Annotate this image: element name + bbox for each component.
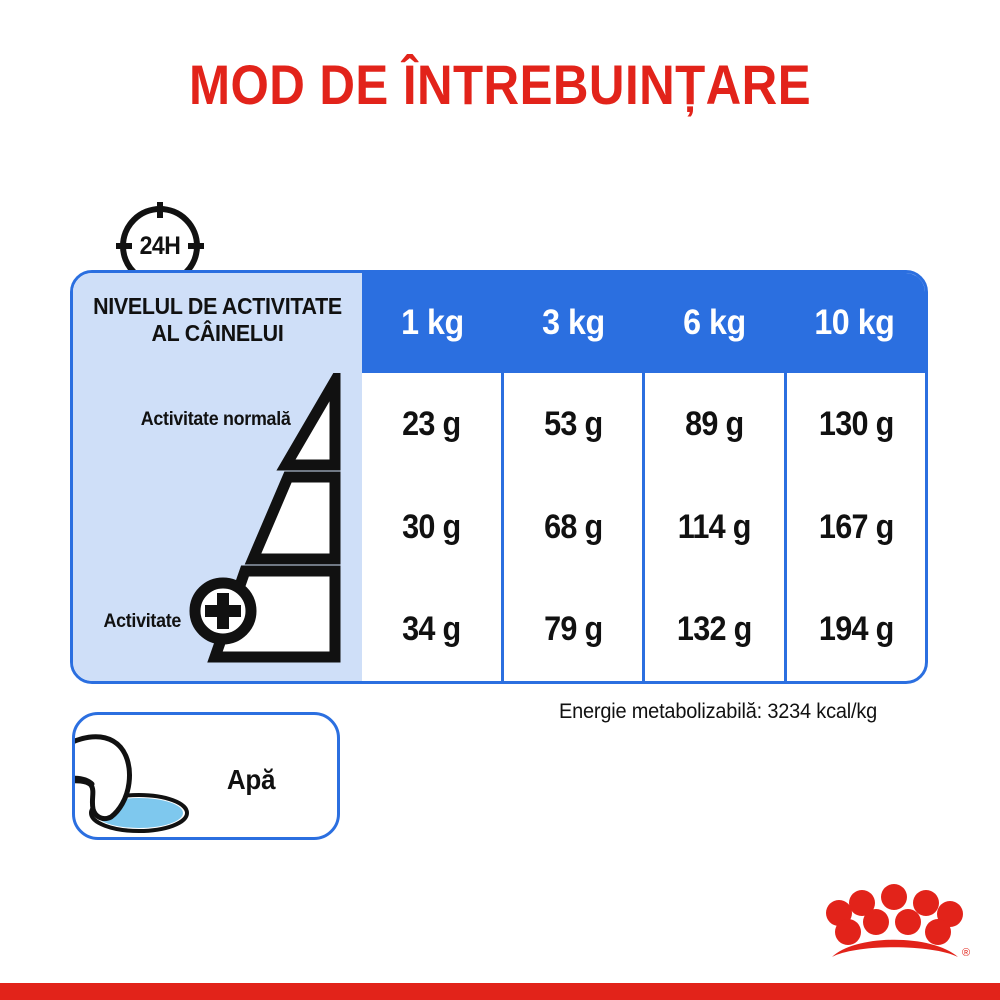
portion-cell: 53 g: [510, 373, 635, 476]
portion-cell: 132 g: [652, 578, 777, 681]
portion-cell: 89 g: [652, 373, 777, 476]
portion-cell: 23 g: [369, 373, 494, 476]
portion-column-1kg: 23 g 30 g 34 g: [362, 373, 501, 681]
royal-canin-crown-logo: ®: [826, 884, 976, 962]
weight-column-header-3kg: 3 kg: [508, 273, 637, 373]
activity-stairs-icon-group: [183, 373, 363, 673]
stairs-step-low-icon: [286, 381, 335, 465]
portion-cell: 30 g: [369, 476, 494, 579]
weight-column-header-row: 1 kg 3 kg 6 kg 10 kg: [362, 273, 925, 373]
activity-level-header: NIVELUL DE ACTIVITATE AL CÂINELUI: [83, 273, 352, 347]
stairs-icon: [183, 373, 363, 673]
activity-level-header-line2: AL CÂINELUI: [83, 320, 352, 347]
portion-cell: 68 g: [510, 476, 635, 579]
portions-panel: 1 kg 3 kg 6 kg 10 kg 23 g 30 g 34 g 53 g…: [362, 273, 925, 681]
dog-drinking-water-icon-wrap: [73, 721, 213, 839]
water-box: Apă: [72, 712, 340, 840]
page-title: MOD DE ÎNTREBUINȚARE: [60, 52, 940, 117]
bottom-red-bar: [0, 983, 1000, 1000]
weight-column-header-1kg: 1 kg: [368, 273, 497, 373]
royal-canin-logo: ®: [826, 884, 976, 962]
portion-cell: 79 g: [510, 578, 635, 681]
portion-cell: 130 g: [793, 373, 918, 476]
weight-column-header-10kg: 10 kg: [790, 273, 919, 373]
portion-cell: 194 g: [793, 578, 918, 681]
portion-cell: 34 g: [369, 578, 494, 681]
portion-column-6kg: 89 g 114 g 132 g: [642, 373, 784, 681]
metabolizable-energy-note: Energie metabolizabilă: 3234 kcal/kg: [514, 700, 923, 724]
portion-column-3kg: 53 g 68 g 79 g: [501, 373, 643, 681]
portion-column-10kg: 130 g 167 g 194 g: [784, 373, 926, 681]
weight-column-header-6kg: 6 kg: [649, 273, 778, 373]
stairs-step-mid-icon: [253, 477, 335, 559]
feeding-table: NIVELUL DE ACTIVITATE AL CÂINELUI Activi…: [70, 270, 928, 684]
registered-mark: ®: [962, 947, 970, 959]
water-label: Apă: [227, 764, 275, 796]
dog-drinking-water-icon: [73, 721, 213, 839]
activity-level-header-line1: NIVELUL DE ACTIVITATE: [83, 293, 352, 320]
portion-cell: 114 g: [652, 476, 777, 579]
activity-level-panel: NIVELUL DE ACTIVITATE AL CÂINELUI Activi…: [73, 273, 362, 681]
activity-rows: Activitate normală Activitate: [73, 373, 362, 681]
activity-label-plus: Activitate: [103, 611, 181, 633]
portion-cell: 167 g: [793, 476, 918, 579]
plus-horizontal-bar: [205, 605, 241, 617]
portion-values-grid: 23 g 30 g 34 g 53 g 68 g 79 g 89 g 114 g…: [362, 373, 925, 681]
